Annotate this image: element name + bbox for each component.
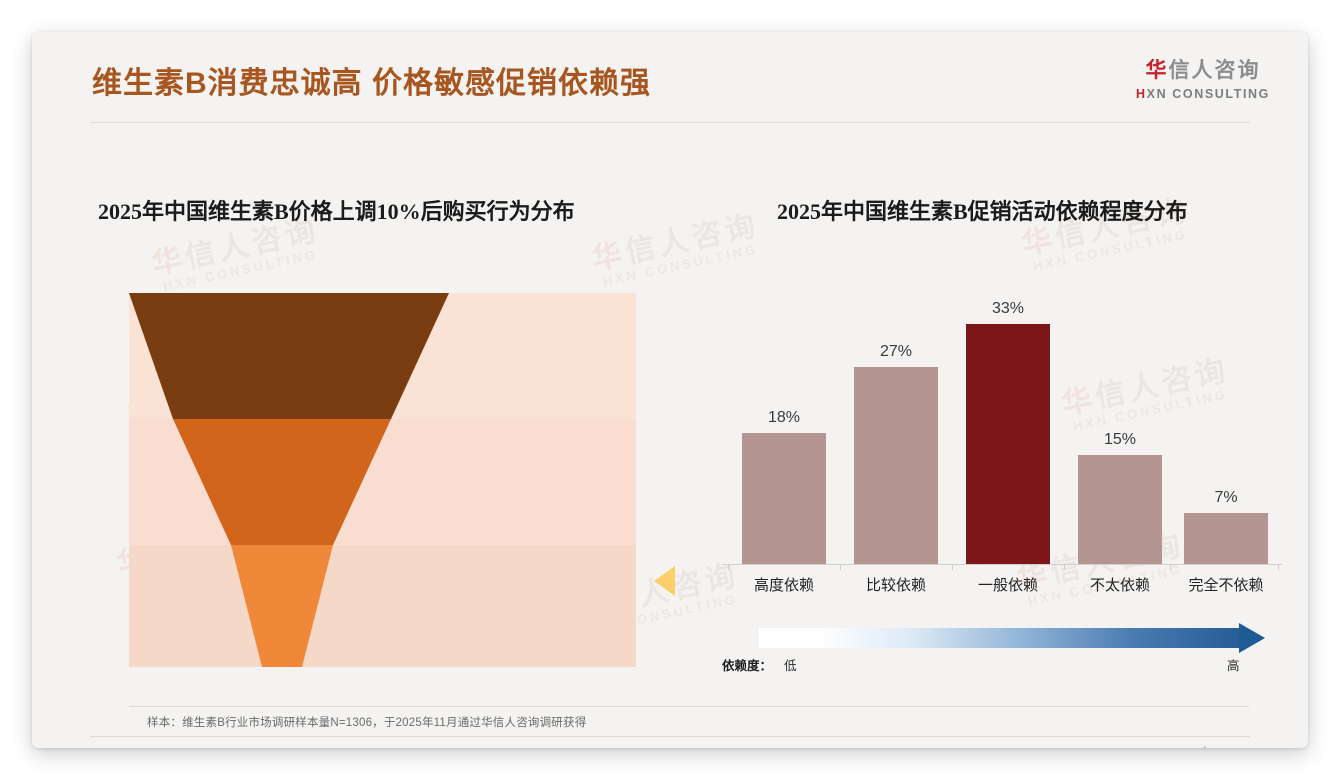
copyright-text: ©2026.1 HXR华信人咨询: [90, 745, 230, 748]
bar-category-4: 完全不依赖: [1171, 574, 1281, 595]
legend-low-label: 低: [784, 655, 797, 674]
axis-tick: [1170, 564, 1171, 570]
slide-card: 华信人咨询 HXN CONSULTING 华信人咨询 HXN CONSULTIN…: [32, 32, 1308, 748]
bar-plot-area: 18% 27% 33% 15% 7%: [722, 302, 1282, 564]
bar-category-3: 不太依赖: [1065, 574, 1175, 595]
watermark: 华信人咨询 HXN CONSULTING: [149, 215, 325, 294]
footnote-divider: [129, 706, 1249, 707]
watermark-cn-red: 华: [589, 237, 629, 276]
axis-tick: [952, 564, 953, 570]
right-chart-title: 2025年中国维生素B促销活动依赖程度分布: [777, 194, 1188, 226]
funnel-segment-1[interactable]: [129, 293, 449, 419]
logo-en-red: H: [1136, 87, 1147, 101]
axis-tick: [1278, 564, 1279, 570]
slide-header: 维生素B消费忠诚高 价格敏感促销依赖强 华信人咨询 HXN CONSULTING: [32, 32, 1308, 124]
gradient-bar: [759, 628, 1239, 648]
x-axis-line: [722, 564, 1282, 565]
logo-cn-red: 华: [1146, 59, 1169, 82]
watermark-en: HXN CONSULTING: [596, 241, 765, 290]
bar-category-0: 高度依赖: [729, 574, 839, 595]
bar-column-2[interactable]: [966, 324, 1050, 564]
logo-cn-rest: 信人咨询: [1169, 59, 1261, 82]
axis-tick: [728, 564, 729, 570]
left-chart-title: 2025年中国维生素B价格上调10%后购买行为分布: [98, 194, 575, 226]
bar-category-2: 一般依赖: [953, 574, 1063, 595]
axis-tick: [1064, 564, 1065, 570]
watermark-cn-red: 华: [149, 242, 189, 281]
bar-column-4[interactable]: [1184, 513, 1268, 564]
watermark-cn-rest: 信人咨询: [622, 209, 762, 270]
bar-column-3[interactable]: [1078, 455, 1162, 564]
logo-chinese: 华信人咨询: [1136, 54, 1270, 84]
legend-label: 依赖度：: [722, 655, 772, 674]
funnel-segment-2[interactable]: [173, 419, 391, 545]
watermark: 华信人咨询 HXN CONSULTING: [589, 210, 765, 289]
bar-value-4: 7%: [1184, 489, 1268, 507]
funnel-shape: [129, 293, 636, 667]
bar-rect-0[interactable]: [742, 433, 826, 564]
funnel-chart: [129, 293, 636, 667]
watermark-en: HXN CONSULTING: [1026, 226, 1195, 275]
bar-rect-1[interactable]: [854, 367, 938, 564]
bar-rect-2[interactable]: [966, 324, 1050, 564]
bar-column-1[interactable]: [854, 367, 938, 564]
logo-english: HXN CONSULTING: [1136, 87, 1270, 101]
page-title: 维生素B消费忠诚高 价格敏感促销依赖强: [92, 58, 651, 102]
footnote-text: 样本：维生素B行业市场调研样本量N=1306，于2025年11月通过华信人咨询调…: [147, 714, 586, 730]
bar-value-1: 27%: [854, 343, 938, 361]
arrow-left-icon: [654, 566, 675, 596]
bar-chart: 18% 27% 33% 15% 7% 高度依赖 比较依赖 一般依赖 不太依赖 完…: [722, 302, 1282, 602]
bar-value-2: 33%: [966, 300, 1050, 318]
gradient-arrow-head-icon: [1239, 623, 1265, 653]
bar-column-0[interactable]: [742, 433, 826, 564]
bar-value-3: 15%: [1078, 431, 1162, 449]
footer-divider: [90, 736, 1250, 737]
legend-high-label: 高: [1227, 655, 1240, 674]
website-url[interactable]: www.hxrcon.com: [1174, 745, 1268, 748]
axis-tick: [840, 564, 841, 570]
bar-rect-4[interactable]: [1184, 513, 1268, 564]
funnel-segment-3[interactable]: [231, 545, 333, 667]
dependency-gradient-legend: 依赖度： 低 高: [722, 628, 1282, 682]
watermark-en: HXN CONSULTING: [156, 246, 325, 295]
logo-en-rest: XN CONSULTING: [1147, 87, 1270, 101]
bar-rect-3[interactable]: [1078, 455, 1162, 564]
watermark-cn-red: 华: [1019, 222, 1059, 261]
company-logo: 华信人咨询 HXN CONSULTING: [1136, 54, 1270, 101]
bar-category-1: 比较依赖: [841, 574, 951, 595]
bar-value-0: 18%: [742, 409, 826, 427]
